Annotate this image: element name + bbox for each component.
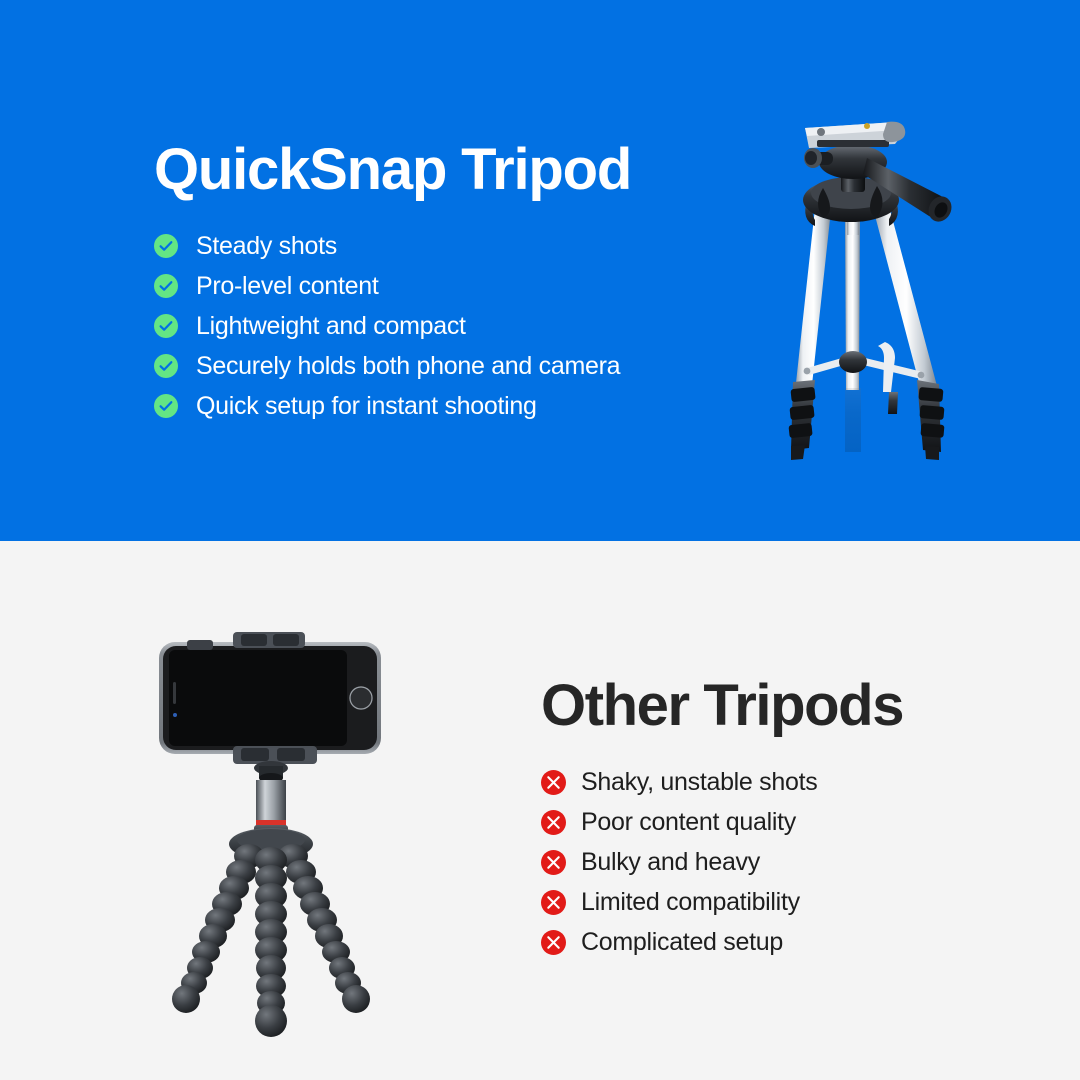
feature-list: Steady shots Pro-level content Lightweig… xyxy=(154,226,620,426)
drawback-list: Shaky, unstable shots Poor content quali… xyxy=(541,762,817,962)
cross-circle-icon xyxy=(541,850,566,875)
feature-item-2: Lightweight and compact xyxy=(154,306,620,346)
feature-item-4: Quick setup for instant shooting xyxy=(154,386,620,426)
check-circle-icon xyxy=(154,234,178,258)
quicksnap-headline: QuickSnap Tripod xyxy=(154,136,631,203)
feature-label: Securely holds both phone and camera xyxy=(196,352,620,381)
drawback-label: Bulky and heavy xyxy=(581,848,760,877)
drawback-label: Complicated setup xyxy=(581,928,783,957)
drawback-label: Poor content quality xyxy=(581,808,796,837)
other-tripods-panel: Other Tripods Shaky, unstable shots Poor… xyxy=(0,541,1080,1080)
check-circle-icon xyxy=(154,354,178,378)
cross-circle-icon xyxy=(541,930,566,955)
feature-label: Quick setup for instant shooting xyxy=(196,392,537,421)
feature-label: Lightweight and compact xyxy=(196,312,466,341)
feature-item-0: Steady shots xyxy=(154,226,620,266)
feature-item-1: Pro-level content xyxy=(154,266,620,306)
flexible-tripod-with-phone-photo xyxy=(145,616,400,1046)
drawback-item-4: Complicated setup xyxy=(541,922,817,962)
check-circle-icon xyxy=(154,274,178,298)
drawback-item-3: Limited compatibility xyxy=(541,882,817,922)
feature-item-3: Securely holds both phone and camera xyxy=(154,346,620,386)
comparison-infographic: QuickSnap Tripod Steady shots Pro-level … xyxy=(0,0,1080,1080)
cross-circle-icon xyxy=(541,770,566,795)
aluminium-tripod-photo xyxy=(745,100,995,460)
check-circle-icon xyxy=(154,394,178,418)
drawback-label: Shaky, unstable shots xyxy=(581,768,817,797)
drawback-item-1: Poor content quality xyxy=(541,802,817,842)
quicksnap-panel: QuickSnap Tripod Steady shots Pro-level … xyxy=(0,0,1080,541)
drawback-label: Limited compatibility xyxy=(581,888,800,917)
feature-label: Steady shots xyxy=(196,232,337,261)
feature-label: Pro-level content xyxy=(196,272,379,301)
drawback-item-0: Shaky, unstable shots xyxy=(541,762,817,802)
other-tripods-headline: Other Tripods xyxy=(541,672,903,739)
check-circle-icon xyxy=(154,314,178,338)
cross-circle-icon xyxy=(541,810,566,835)
drawback-item-2: Bulky and heavy xyxy=(541,842,817,882)
cross-circle-icon xyxy=(541,890,566,915)
